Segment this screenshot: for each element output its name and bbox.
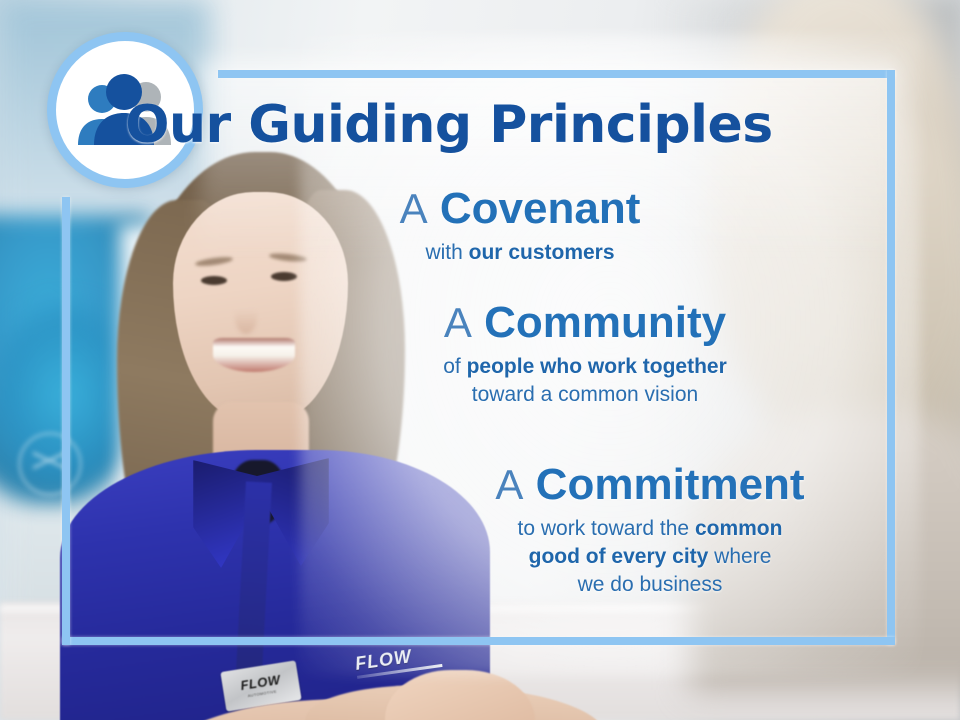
principle-community: A Community of people who work togethert… [350,300,820,409]
principle-heading: A Covenant [310,186,730,232]
principle-heading: A Commitment [420,462,880,508]
emphasis-text: common [695,517,783,540]
principle-article: A [495,461,523,508]
principle-keyword: Covenant [440,184,640,233]
principle-description: to work toward the commongood of every c… [420,515,880,598]
emphasis-text: good of every city [529,545,709,568]
principle-heading: A Community [350,300,820,346]
principle-description: with our customers [310,239,730,267]
principle-keyword: Community [484,298,726,347]
principle-article: A [400,185,428,232]
plain-text: we do business [578,573,723,596]
plain-text: to work toward the [518,517,695,540]
page-title: Our Guiding Principles [0,95,898,155]
principle-commitment: A Commitment to work toward the commongo… [420,462,880,598]
guiding-principles-graphic: FLOW AUTOMOTIVE FLOW [0,0,960,720]
emphasis-text: our customers [469,241,615,264]
principle-covenant: A Covenant with our customers [310,186,730,267]
plain-text: with [425,241,468,264]
principle-article: A [444,299,472,346]
plain-text: toward a common vision [472,383,698,406]
principle-keyword: Commitment [536,460,805,509]
principle-description: of people who work togethertoward a comm… [350,353,820,408]
plain-text: of [443,355,466,378]
text-content: Our Guiding Principles A Covenant with o… [0,0,960,720]
plain-text: where [708,545,771,568]
emphasis-text: people who work together [467,355,727,378]
